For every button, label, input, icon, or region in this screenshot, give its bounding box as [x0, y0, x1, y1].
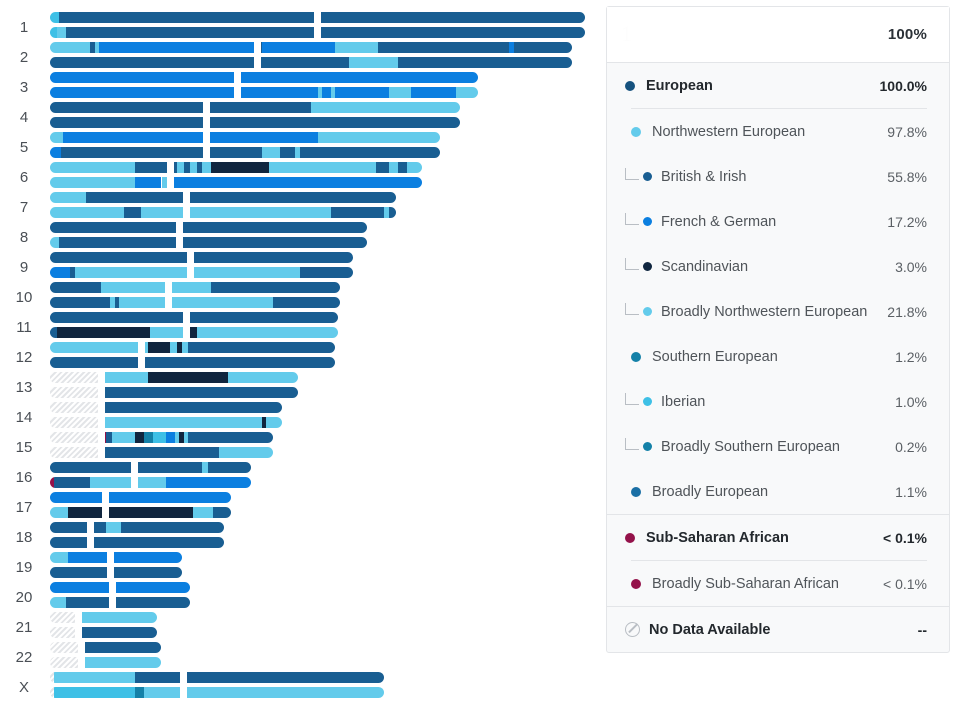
chromosome-row: 6: [0, 162, 605, 188]
centromere: [254, 42, 261, 53]
ancestry-segment: [211, 162, 269, 173]
chromosome-row: 16: [0, 462, 605, 488]
no-data-segment: [50, 402, 100, 413]
legend-value: --: [918, 622, 927, 638]
ancestry-segment: [148, 342, 170, 353]
centromere: [102, 507, 109, 518]
chromosome-arm: [50, 537, 89, 548]
chromosome-label: 1: [6, 20, 42, 35]
ancestry-segment: [101, 282, 166, 293]
centromere: [98, 417, 105, 428]
chromosome-arm: [80, 612, 157, 623]
ancestry-segment: [311, 102, 460, 113]
chromosome-row: 20: [0, 582, 605, 608]
chromosome-arm: [50, 102, 205, 113]
haplotype-bar: [50, 327, 338, 338]
ancestry-segment: [144, 687, 183, 698]
haplotype-bar: [50, 552, 182, 563]
chromosome-arm: [50, 252, 189, 263]
ancestry-segment: [184, 162, 191, 173]
haplotype-bar: [50, 87, 478, 98]
ancestry-segment: [83, 657, 162, 668]
ancestry-segment: [50, 282, 101, 293]
ancestry-segment: [50, 12, 59, 23]
ancestry-segment: [112, 552, 182, 563]
ancestry-segment: [103, 387, 298, 398]
chromosome-arm: [92, 537, 224, 548]
haplotype-bar: [50, 342, 335, 353]
ancestry-segment: [188, 192, 396, 203]
centromere: [98, 387, 105, 398]
haplotype-bar: [50, 537, 224, 548]
haplotype-bar: [50, 642, 162, 653]
ancestry-segment: [280, 147, 296, 158]
chromosome-arm: [50, 462, 133, 473]
chromosome-row: 13: [0, 372, 605, 398]
chromosome-label: 22: [6, 650, 42, 665]
legend-row[interactable]: Northwestern European97.8%: [607, 109, 949, 154]
ancestry-segment: [259, 57, 349, 68]
ancestry-segment: [211, 282, 340, 293]
legend-label: French & German: [661, 214, 879, 230]
ancestry-segment: [50, 462, 133, 473]
chromosome-arm: [50, 522, 89, 533]
chromosome-arm: [50, 657, 80, 668]
ancestry-segment: [50, 552, 68, 563]
chromosome-arm: [112, 552, 182, 563]
chromosome-label: 18: [6, 530, 42, 545]
ancestry-color-dot: [643, 307, 652, 316]
legend-value: 1.1%: [895, 484, 927, 500]
chromosome-arm: [239, 87, 478, 98]
ancestry-segment: [136, 462, 201, 473]
chromosome-arm: [50, 42, 256, 53]
tree-branch-icon: [625, 438, 639, 450]
chromosome-arm: [50, 222, 178, 233]
chromosome-arm: [50, 507, 104, 518]
centromere: [165, 282, 172, 293]
chromosome-arm: [50, 477, 133, 488]
haplotype-bar: [50, 492, 231, 503]
chromosome-arm: [136, 477, 250, 488]
centromere: [183, 207, 190, 218]
tree-branch-icon: [625, 258, 639, 270]
ancestry-segment: [50, 237, 59, 248]
ancestry-segment: [50, 147, 61, 158]
haplotype-bar: [50, 387, 298, 398]
chromosome-arm: [114, 597, 191, 608]
legend-row[interactable]: Sub-Saharan African< 0.1%: [607, 515, 949, 560]
chromosome-row: 18: [0, 522, 605, 548]
ancestry-segment: [68, 552, 109, 563]
ancestry-segment: [322, 87, 331, 98]
haplotype-bar: [50, 627, 157, 638]
haplotype-bar: [50, 522, 224, 533]
chromosome-arm: [50, 72, 236, 83]
haplotype-bar: [50, 117, 460, 128]
chromosome-arm: [83, 642, 162, 653]
chromosome-label: 10: [6, 290, 42, 305]
ancestry-segment: [269, 162, 376, 173]
chromosome-arm: [50, 582, 111, 593]
ancestry-segment: [59, 12, 316, 23]
legend-row[interactable]: French & German17.2%: [607, 199, 949, 244]
ancestry-segment: [50, 522, 89, 533]
legend-row[interactable]: European100.0%: [607, 63, 949, 108]
ancestry-segment: [135, 432, 144, 443]
legend-value: 100.0%: [880, 78, 927, 94]
ancestry-segment: [68, 507, 104, 518]
chromosome-label: 15: [6, 440, 42, 455]
haplotype-bar: [50, 27, 585, 38]
ancestry-segment: [63, 132, 204, 143]
haplotype-bar: [50, 177, 422, 188]
legend-row[interactable]: No Data Available--: [607, 607, 949, 652]
ancestry-segment: [460, 87, 478, 98]
ancestry-color-dot: [643, 217, 652, 226]
ancestry-color-dot: [631, 579, 641, 589]
ancestry-segment: [208, 117, 461, 128]
ancestry-segment: [119, 297, 167, 308]
chromosome-arm: [208, 117, 461, 128]
chromosome-label: 14: [6, 410, 42, 425]
ancestry-segment: [185, 687, 384, 698]
chromosome-arm: [107, 492, 230, 503]
chromosome-arm: [50, 192, 185, 203]
chromosome-arm: [50, 27, 316, 38]
ancestry-segment: [143, 357, 336, 368]
ancestry-segment: [50, 42, 90, 53]
haplotype-bar: [50, 162, 422, 173]
ancestry-segment: [66, 27, 316, 38]
ancestry-segment: [57, 327, 151, 338]
ancestry-segment: [153, 432, 166, 443]
ancestry-segment: [181, 237, 367, 248]
legend-value: 1.2%: [895, 349, 927, 365]
chromosome-arm: [50, 207, 185, 218]
ancestry-segment: [80, 612, 157, 623]
legend-label: No Data Available: [649, 622, 910, 638]
ancestry-segment: [99, 42, 256, 53]
centromere: [180, 687, 187, 698]
no-data-segment: [50, 417, 100, 428]
chromosome-row: 10: [0, 282, 605, 308]
centromere: [203, 117, 210, 128]
ancestry-segment: [239, 72, 478, 83]
chromosome-label: 21: [6, 620, 42, 635]
ancestry-segment: [50, 162, 135, 173]
chromosome-arm: [188, 207, 396, 218]
ancestry-segment: [175, 177, 423, 188]
ancestry-segment: [202, 162, 211, 173]
legend-label: Sub-Saharan African: [646, 530, 875, 546]
chromosome-arm: [50, 282, 167, 293]
chromosome-arm: [50, 687, 182, 698]
chromosome-arm: [50, 357, 140, 368]
watermark: 1: [621, 21, 632, 47]
ancestry-segment: [92, 522, 106, 533]
haplotype-bar: [50, 207, 396, 218]
chromosome-row: 4: [0, 102, 605, 128]
chromosome-label: 12: [6, 350, 42, 365]
centromere: [234, 87, 241, 98]
ancestry-segment: [50, 57, 256, 68]
haplotype-bar: [50, 222, 367, 233]
ancestry-segment: [208, 102, 311, 113]
no-data-segment: [50, 372, 100, 383]
ancestry-segment: [112, 432, 134, 443]
haplotype-bar: [50, 357, 335, 368]
legend-value: 0.2%: [895, 439, 927, 455]
ancestry-segment: [66, 597, 111, 608]
ancestry-segment: [331, 207, 385, 218]
ancestry-legend-panel: 1 100% European100.0%Northwestern Europe…: [606, 6, 950, 653]
legend-value: 1.0%: [895, 394, 927, 410]
tree-branch-icon: [625, 303, 639, 315]
karyotype-panel: 12345678910111213141516171819202122X: [0, 0, 605, 700]
legend-label: European: [646, 78, 872, 94]
ancestry-segment: [185, 672, 384, 683]
ancestry-segment: [112, 567, 182, 578]
ancestry-segment: [135, 177, 162, 188]
ancestry-segment: [50, 177, 135, 188]
chromosome-label: 9: [6, 260, 42, 275]
legend-value: 3.0%: [895, 259, 927, 275]
ancestry-segment: [50, 87, 236, 98]
ancestry-segment: [273, 297, 340, 308]
ancestry-segment: [335, 42, 377, 53]
haplotype-bar: [50, 42, 572, 53]
legend-group: Sub-Saharan African< 0.1%Broadly Sub-Sah…: [607, 515, 949, 607]
haplotype-bar: [50, 687, 385, 698]
chromosome-label: 6: [6, 170, 42, 185]
chromosome-label: 2: [6, 50, 42, 65]
legend-row[interactable]: Iberian1.0%: [607, 379, 949, 424]
haplotype-bar: [50, 57, 572, 68]
chromosome-arm: [50, 87, 236, 98]
chromosome-row: 15: [0, 432, 605, 458]
legend-label: Southern European: [652, 349, 887, 365]
chromosome-row: 19: [0, 552, 605, 578]
centromere: [107, 567, 114, 578]
centromere: [131, 477, 138, 488]
ancestry-segment: [188, 432, 273, 443]
ancestry-segment: [50, 327, 57, 338]
chromosome-arm: [170, 282, 340, 293]
chromosome-arm: [50, 612, 77, 623]
legend-label: Broadly Southern European: [661, 439, 887, 455]
chromosome-arm: [50, 402, 100, 413]
haplotype-bar: [50, 432, 273, 443]
ancestry-segment: [262, 147, 280, 158]
chromosome-arm: [50, 342, 140, 353]
legend-row[interactable]: Southern European1.2%: [607, 334, 949, 379]
ancestry-segment: [124, 207, 142, 218]
ancestry-segment: [50, 582, 111, 593]
ancestry-segment: [114, 597, 191, 608]
ancestry-segment: [181, 222, 367, 233]
ancestry-segment: [190, 327, 197, 338]
centromere: [78, 642, 85, 653]
chromosome-label: 17: [6, 500, 42, 515]
chromosome-arm: [185, 672, 384, 683]
no-data-segment: [50, 612, 77, 623]
legend-row[interactable]: Broadly Sub-Saharan African< 0.1%: [607, 561, 949, 606]
ancestry-segment: [411, 87, 456, 98]
haplotype-bar: [50, 597, 190, 608]
ancestry-segment: [50, 132, 63, 143]
legend-group: European100.0%Northwestern European97.8%…: [607, 63, 949, 515]
ancestry-segment: [389, 162, 398, 173]
haplotype-bar: [50, 582, 190, 593]
ancestry-segment: [114, 582, 191, 593]
legend-row[interactable]: Scandinavian3.0%: [607, 244, 949, 289]
ancestry-segment: [107, 492, 230, 503]
chromosome-arm: [319, 27, 585, 38]
chromosome-row: 2: [0, 42, 605, 68]
ancestry-segment: [50, 357, 140, 368]
centromere: [167, 162, 174, 173]
ancestry-segment: [150, 327, 179, 338]
ancestry-segment: [106, 522, 122, 533]
chromosome-arm: [50, 432, 100, 443]
ancestry-segment: [121, 522, 224, 533]
chromosome-arm: [103, 402, 282, 413]
centromere: [176, 222, 183, 233]
ancestry-segment: [407, 162, 423, 173]
chromosome-arm: [50, 567, 109, 578]
ancestry-color-dot: [643, 397, 652, 406]
centromere: [187, 252, 194, 263]
chromosome-arm: [50, 387, 100, 398]
centromere: [180, 672, 187, 683]
haplotype-bar: [50, 297, 340, 308]
chromosome-row: 5: [0, 132, 605, 158]
chromosome-row: 7: [0, 192, 605, 218]
chromosome-arm: [50, 177, 169, 188]
chromosome-arm: [50, 117, 205, 128]
ancestry-segment: [50, 597, 66, 608]
legend-row[interactable]: Broadly Northwestern European21.8%: [607, 289, 949, 334]
tree-branch-icon: [625, 393, 639, 405]
chromosome-row: 12: [0, 342, 605, 368]
ancestry-segment: [54, 672, 134, 683]
chromosome-arm: [107, 507, 230, 518]
legend-value: < 0.1%: [883, 576, 927, 592]
ancestry-segment: [103, 402, 282, 413]
legend-row[interactable]: British & Irish55.8%: [607, 154, 949, 199]
legend-row[interactable]: Broadly Southern European0.2%: [607, 424, 949, 469]
chromosome-arm: [103, 387, 298, 398]
ancestry-segment: [319, 12, 585, 23]
centromere: [183, 312, 190, 323]
ancestry-segment: [80, 627, 157, 638]
centromere: [183, 327, 190, 338]
chromosome-arm: [50, 492, 104, 503]
ancestry-segment: [177, 162, 184, 173]
ancestry-segment: [50, 507, 68, 518]
chromosome-arm: [50, 552, 109, 563]
centromere: [87, 537, 94, 548]
ancestry-segment: [90, 477, 133, 488]
no-data-segment: [50, 447, 100, 458]
ancestry-segment: [170, 297, 273, 308]
ancestry-segment: [389, 207, 396, 218]
centromere: [75, 627, 82, 638]
chromosome-arm: [208, 132, 441, 143]
ancestry-segment: [50, 267, 70, 278]
ancestry-segment: [349, 57, 398, 68]
ancestry-segment: [300, 147, 440, 158]
chromosome-arm: [83, 657, 162, 668]
ancestry-segment: [262, 42, 336, 53]
haplotype-bar: [50, 417, 282, 428]
ancestry-segment: [228, 372, 297, 383]
chromosome-row: 17: [0, 492, 605, 518]
legend-label: Broadly European: [652, 484, 887, 500]
legend-group: No Data Available--: [607, 607, 949, 652]
legend-label: Broadly Northwestern European: [661, 304, 879, 320]
chromosome-arm: [192, 267, 353, 278]
centromere: [203, 102, 210, 113]
chromosome-arm: [50, 57, 256, 68]
chromosome-arm: [50, 267, 189, 278]
haplotype-bar: [50, 447, 273, 458]
no-data-segment: [50, 432, 100, 443]
chromosome-row: 9: [0, 252, 605, 278]
ancestry-segment: [57, 27, 66, 38]
chromosome-row: 14: [0, 402, 605, 428]
chromosome-arm: [50, 132, 205, 143]
legend-row[interactable]: Broadly European1.1%: [607, 469, 949, 514]
centromere: [98, 402, 105, 413]
ancestry-segment: [166, 477, 251, 488]
chromosome-row: 3: [0, 72, 605, 98]
ancestry-color-dot: [643, 262, 652, 271]
chromosome-label: 20: [6, 590, 42, 605]
haplotype-bar: [50, 672, 385, 683]
chromosome-label: 8: [6, 230, 42, 245]
centromere: [138, 357, 145, 368]
centromere: [102, 492, 109, 503]
ancestry-segment: [50, 27, 57, 38]
haplotype-bar: [50, 567, 182, 578]
chromosome-arm: [208, 147, 441, 158]
centromere: [98, 372, 105, 383]
ancestry-segment: [188, 312, 338, 323]
centromere: [165, 297, 172, 308]
ancestry-segment: [50, 102, 205, 113]
chromosome-arm: [50, 447, 100, 458]
ancestry-segment: [188, 207, 331, 218]
legend-value: 17.2%: [887, 214, 927, 230]
chromosome-arm: [192, 252, 353, 263]
legend-value: 21.8%: [887, 304, 927, 320]
chromosome-label: 5: [6, 140, 42, 155]
chromosome-arm: [80, 627, 157, 638]
chromosome-label: 7: [6, 200, 42, 215]
ancestry-segment: [83, 642, 162, 653]
ancestry-segment: [170, 342, 177, 353]
chromosome-arm: [172, 177, 422, 188]
legend-value: < 0.1%: [883, 530, 927, 546]
legend-total-percent: 100%: [888, 26, 927, 43]
centromere: [98, 432, 105, 443]
ancestry-segment: [219, 447, 273, 458]
centromere: [78, 657, 85, 668]
ancestry-color-dot: [625, 533, 635, 543]
ancestry-segment: [103, 417, 262, 428]
